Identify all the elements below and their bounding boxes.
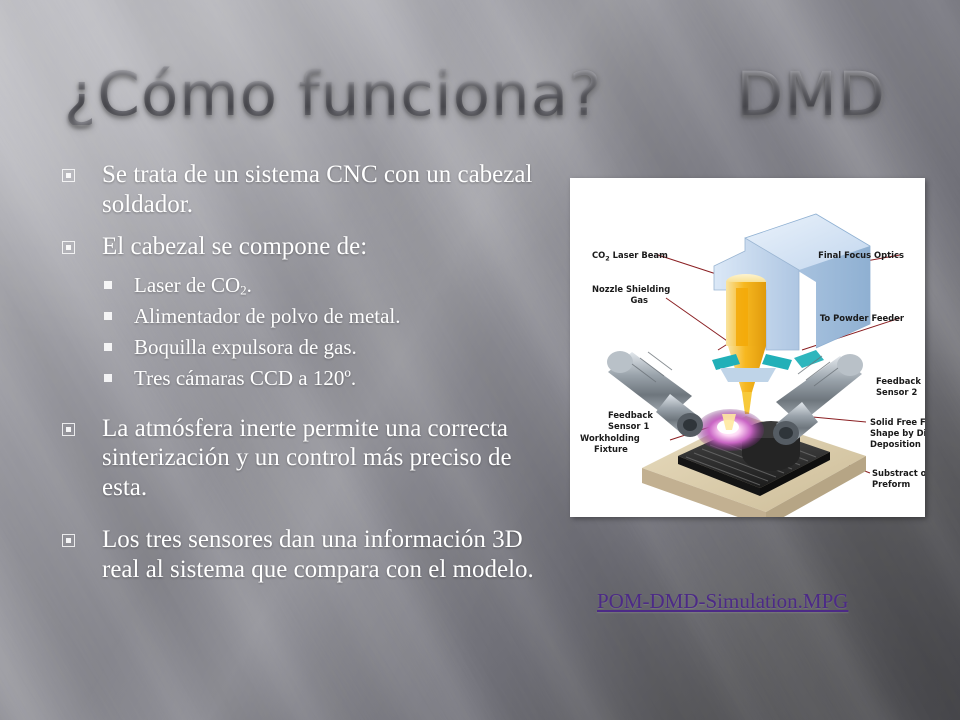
list-item-label: La atmósfera inerte permite una correcta…: [102, 414, 562, 503]
list-item-label: Se trata de un sistema CNC con un cabeza…: [102, 160, 562, 220]
bullet-square-filled-icon: [104, 374, 112, 382]
presentation-slide: ¿Cómo funciona? DMD Se trata de un siste…: [0, 0, 960, 720]
list-item: Los tres sensores dan una información 3D…: [62, 525, 562, 585]
list-item-label: Tres cámaras CCD a 120º.: [134, 366, 356, 392]
bullet-square-outline-icon: [62, 423, 75, 436]
label-substrate-line2: Preform: [872, 479, 910, 489]
melt-pool: [696, 409, 764, 451]
label-feedback-sensor-2-line1: Feedback: [876, 376, 921, 386]
bullet-square-filled-icon: [104, 312, 112, 320]
video-hyperlink[interactable]: POM-DMD-Simulation.MPG: [597, 589, 848, 614]
bullet-square-outline-icon: [62, 534, 75, 547]
list-item: Laser de CO2.: [104, 273, 562, 299]
list-item: El cabezal se compone de:: [62, 232, 562, 262]
list-item-label: Alimentador de polvo de metal.: [134, 304, 401, 330]
label-feedback-sensor-2-line2: Sensor 2: [876, 387, 917, 397]
co2-text-tail: .: [247, 273, 252, 297]
list-item: La atmósfera inerte permite una correcta…: [62, 414, 562, 503]
bullet-square-outline-icon: [62, 169, 75, 182]
label-nozzle-shielding-gas-line2: Gas: [630, 295, 648, 305]
co2-text: Laser de CO: [134, 273, 240, 297]
list-item-label: Laser de CO2.: [134, 273, 252, 299]
label-solid-free-form-line3: Deposition: [870, 439, 921, 449]
dmd-process-diagram: CO2 Laser Beam Nozzle Shielding Gas Feed…: [570, 178, 925, 517]
label-solid-free-form-line1: Solid Free Form: [870, 417, 925, 427]
list-item: Boquilla expulsora de gas.: [104, 335, 562, 361]
label-workholding-fixture-line2: Fixture: [594, 444, 628, 454]
bullet-square-outline-icon: [62, 241, 75, 254]
label-final-focus-optics: Final Focus Optics: [818, 250, 904, 260]
label-to-powder-feeder: To Powder Feeder: [820, 313, 905, 323]
bullet-square-filled-icon: [104, 281, 112, 289]
label-substrate-line1: Substract or Die: [872, 468, 925, 478]
list-item-label: El cabezal se compone de:: [102, 232, 367, 262]
label-feedback-sensor-1-line1: Feedback: [608, 410, 653, 420]
label-nozzle-shielding-gas-line1: Nozzle Shielding: [592, 284, 670, 294]
label-feedback-sensor-1-line2: Sensor 1: [608, 421, 649, 431]
list-item: Se trata de un sistema CNC con un cabeza…: [62, 160, 562, 220]
list-item-label: Los tres sensores dan una información 3D…: [102, 525, 562, 585]
label-solid-free-form-line2: Shape by Direct: [870, 428, 925, 438]
label-workholding-fixture-line1: Workholding: [580, 433, 640, 443]
bullet-list: Se trata de un sistema CNC con un cabeza…: [62, 160, 562, 596]
bullet-square-filled-icon: [104, 343, 112, 351]
list-item-label: Boquilla expulsora de gas.: [134, 335, 357, 361]
list-item: Tres cámaras CCD a 120º.: [104, 366, 562, 392]
list-item: Alimentador de polvo de metal.: [104, 304, 562, 330]
